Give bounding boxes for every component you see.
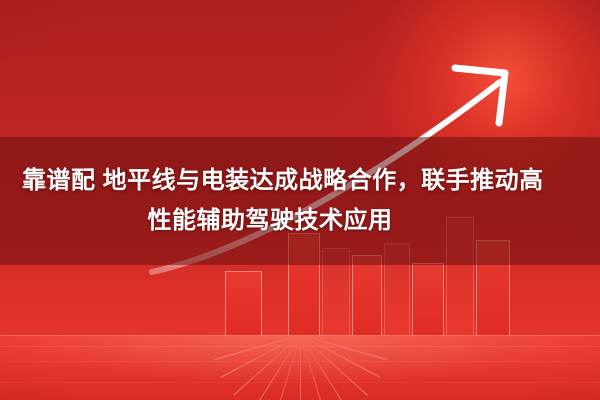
vignette <box>0 0 600 400</box>
promo-banner: 靠谱配 地平线与电装达成战略合作，联手推动高 性能辅助驾驶技术应用 <box>0 0 600 400</box>
